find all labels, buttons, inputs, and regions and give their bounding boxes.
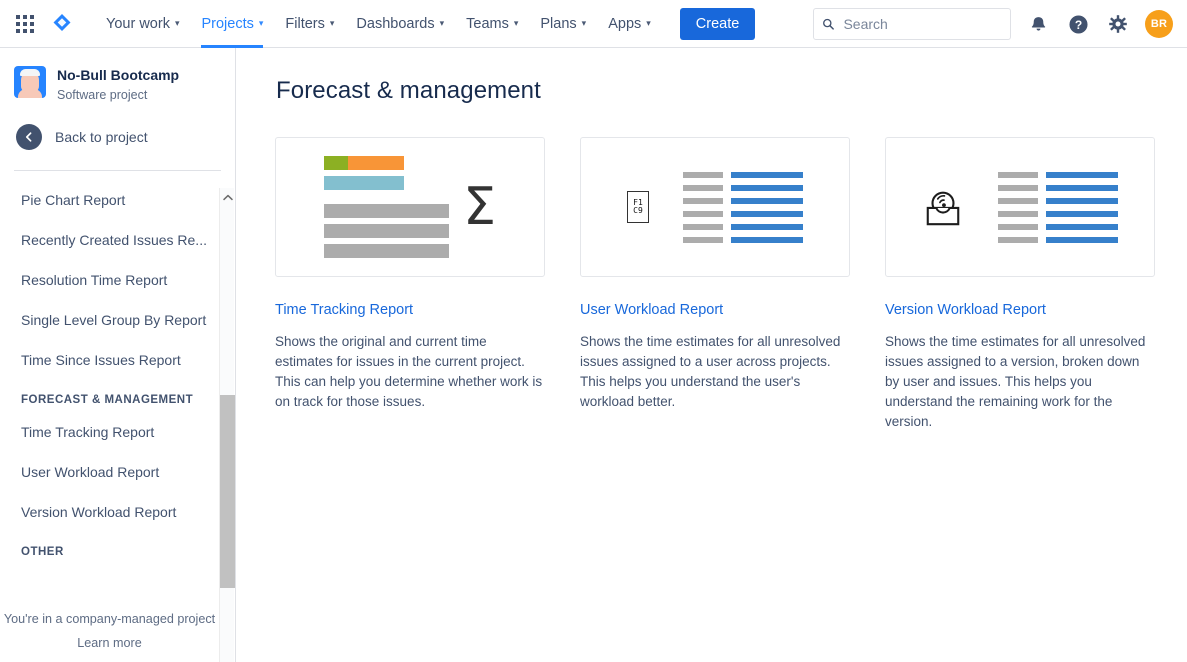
- version-workload-thumbnail[interactable]: [885, 137, 1155, 277]
- sidebar-footer: You're in a company-managed project Lear…: [0, 612, 219, 650]
- bell-icon[interactable]: [1025, 11, 1051, 37]
- question-circle-icon[interactable]: ?: [1065, 11, 1091, 37]
- sidebar: No-Bull Bootcamp Software project Back t…: [0, 48, 236, 662]
- nav-item-dashboards[interactable]: Dashboards ▾: [345, 0, 455, 48]
- scrollbar-thumb[interactable]: [220, 395, 235, 588]
- back-to-project-label: Back to project: [55, 129, 148, 145]
- chevron-down-icon: ▾: [646, 19, 651, 28]
- apps-grid-icon[interactable]: [13, 12, 37, 36]
- project-header[interactable]: No-Bull Bootcamp Software project: [0, 48, 235, 102]
- nav-item-plans[interactable]: Plans ▾: [529, 0, 597, 48]
- sidebar-group-forecast-management: FORECAST & MANAGEMENT: [0, 380, 235, 412]
- sidebar-item-pie-chart-report[interactable]: Pie Chart Report: [0, 180, 235, 220]
- sidebar-item-version-workload-report[interactable]: Version Workload Report: [0, 492, 235, 532]
- chevron-down-icon: ▾: [514, 19, 519, 28]
- report-card-version-workload: Version Workload Report Shows the time e…: [885, 137, 1155, 432]
- report-description: Shows the time estimates for all unresol…: [580, 332, 850, 412]
- chevron-down-icon: ▾: [175, 19, 180, 28]
- sidebar-group-other: OTHER: [0, 532, 235, 564]
- nav-item-label: Projects: [201, 16, 253, 32]
- report-link-version-workload[interactable]: Version Workload Report: [885, 302, 1155, 318]
- search-icon: [822, 17, 834, 31]
- learn-more-link[interactable]: Learn more: [0, 636, 219, 650]
- report-card-list: Σ Time Tracking Report Shows the origina…: [236, 105, 1187, 432]
- nav-item-label: Teams: [466, 16, 509, 32]
- nav-items: Your work ▾ Projects ▾ Filters ▾ Dashboa…: [95, 0, 755, 48]
- sidebar-scrollbar[interactable]: [219, 188, 234, 662]
- report-card-user-workload: F1 C9 User Workload Report Shows the tim…: [580, 137, 850, 432]
- avatar[interactable]: BR: [1145, 10, 1173, 38]
- chevron-down-icon: ▾: [330, 19, 335, 28]
- arrow-left-icon: [16, 124, 42, 150]
- jira-logo-icon[interactable]: [49, 11, 75, 37]
- nav-item-label: Plans: [540, 16, 576, 32]
- nav-item-label: Your work: [106, 16, 170, 32]
- company-managed-note: You're in a company-managed project: [0, 612, 219, 626]
- thumb-bar-gray: [324, 204, 449, 218]
- search-input[interactable]: [841, 15, 1002, 33]
- thumb-bar-blue: [324, 176, 404, 190]
- report-link-time-tracking[interactable]: Time Tracking Report: [275, 302, 545, 318]
- nav-item-label: Dashboards: [356, 16, 434, 32]
- sidebar-item-time-tracking-report[interactable]: Time Tracking Report: [0, 412, 235, 452]
- report-link-user-workload[interactable]: User Workload Report: [580, 302, 850, 318]
- sidebar-item-single-level-group-by-report[interactable]: Single Level Group By Report: [0, 300, 235, 340]
- sidebar-item-recently-created-issues-report[interactable]: Recently Created Issues Re...: [0, 220, 235, 260]
- nav-item-apps[interactable]: Apps ▾: [597, 0, 662, 48]
- nav-item-teams[interactable]: Teams ▾: [455, 0, 529, 48]
- sidebar-divider: [14, 170, 221, 171]
- create-button[interactable]: Create: [680, 8, 756, 40]
- nav-item-projects[interactable]: Projects ▾: [190, 0, 274, 48]
- thumb-bar-green-orange: [324, 156, 404, 170]
- time-tracking-chart-thumbnail[interactable]: Σ: [275, 137, 545, 277]
- report-description: Shows the time estimates for all unresol…: [885, 332, 1155, 432]
- project-type: Software project: [57, 88, 179, 102]
- thumb-bar-gray: [324, 224, 449, 238]
- thumb-bar-gray: [324, 244, 449, 258]
- thumb-line-list: [998, 172, 1118, 243]
- top-navigation-bar: Your work ▾ Projects ▾ Filters ▾ Dashboa…: [0, 0, 1187, 48]
- sidebar-item-user-workload-report[interactable]: User Workload Report: [0, 452, 235, 492]
- thumb-line-list: [683, 172, 803, 243]
- chevron-down-icon: ▾: [259, 19, 264, 28]
- main-content: Forecast & management: [236, 48, 1187, 662]
- minidisc-icon: [922, 187, 964, 227]
- tofu-codepoint-bottom: C9: [633, 207, 643, 215]
- report-card-time-tracking: Σ Time Tracking Report Shows the origina…: [275, 137, 545, 432]
- sidebar-item-time-since-issues-report[interactable]: Time Since Issues Report: [0, 340, 235, 380]
- sidebar-item-resolution-time-report[interactable]: Resolution Time Report: [0, 260, 235, 300]
- sigma-icon: Σ: [463, 181, 496, 233]
- user-workload-thumbnail[interactable]: F1 C9: [580, 137, 850, 277]
- search-box[interactable]: [813, 8, 1011, 40]
- chevron-down-icon: ▾: [582, 19, 587, 28]
- gear-icon[interactable]: [1105, 11, 1131, 37]
- nav-item-filters[interactable]: Filters ▾: [274, 0, 345, 48]
- sidebar-report-list: Pie Chart Report Recently Created Issues…: [0, 180, 235, 564]
- nav-item-label: Apps: [608, 16, 641, 32]
- project-avatar-bull-icon: [14, 66, 46, 98]
- nav-item-your-work[interactable]: Your work ▾: [95, 0, 190, 48]
- report-description: Shows the original and current time esti…: [275, 332, 545, 412]
- project-name: No-Bull Bootcamp: [57, 66, 179, 84]
- nav-item-label: Filters: [285, 16, 324, 32]
- missing-glyph-chart-icon: F1 C9: [627, 191, 649, 223]
- nav-right-group: ? BR: [813, 0, 1173, 48]
- chevron-down-icon: ▾: [440, 19, 445, 28]
- back-to-project-button[interactable]: Back to project: [0, 102, 235, 150]
- chevron-up-icon[interactable]: [220, 190, 235, 204]
- page-title: Forecast & management: [236, 48, 1187, 105]
- svg-text:?: ?: [1074, 18, 1081, 32]
